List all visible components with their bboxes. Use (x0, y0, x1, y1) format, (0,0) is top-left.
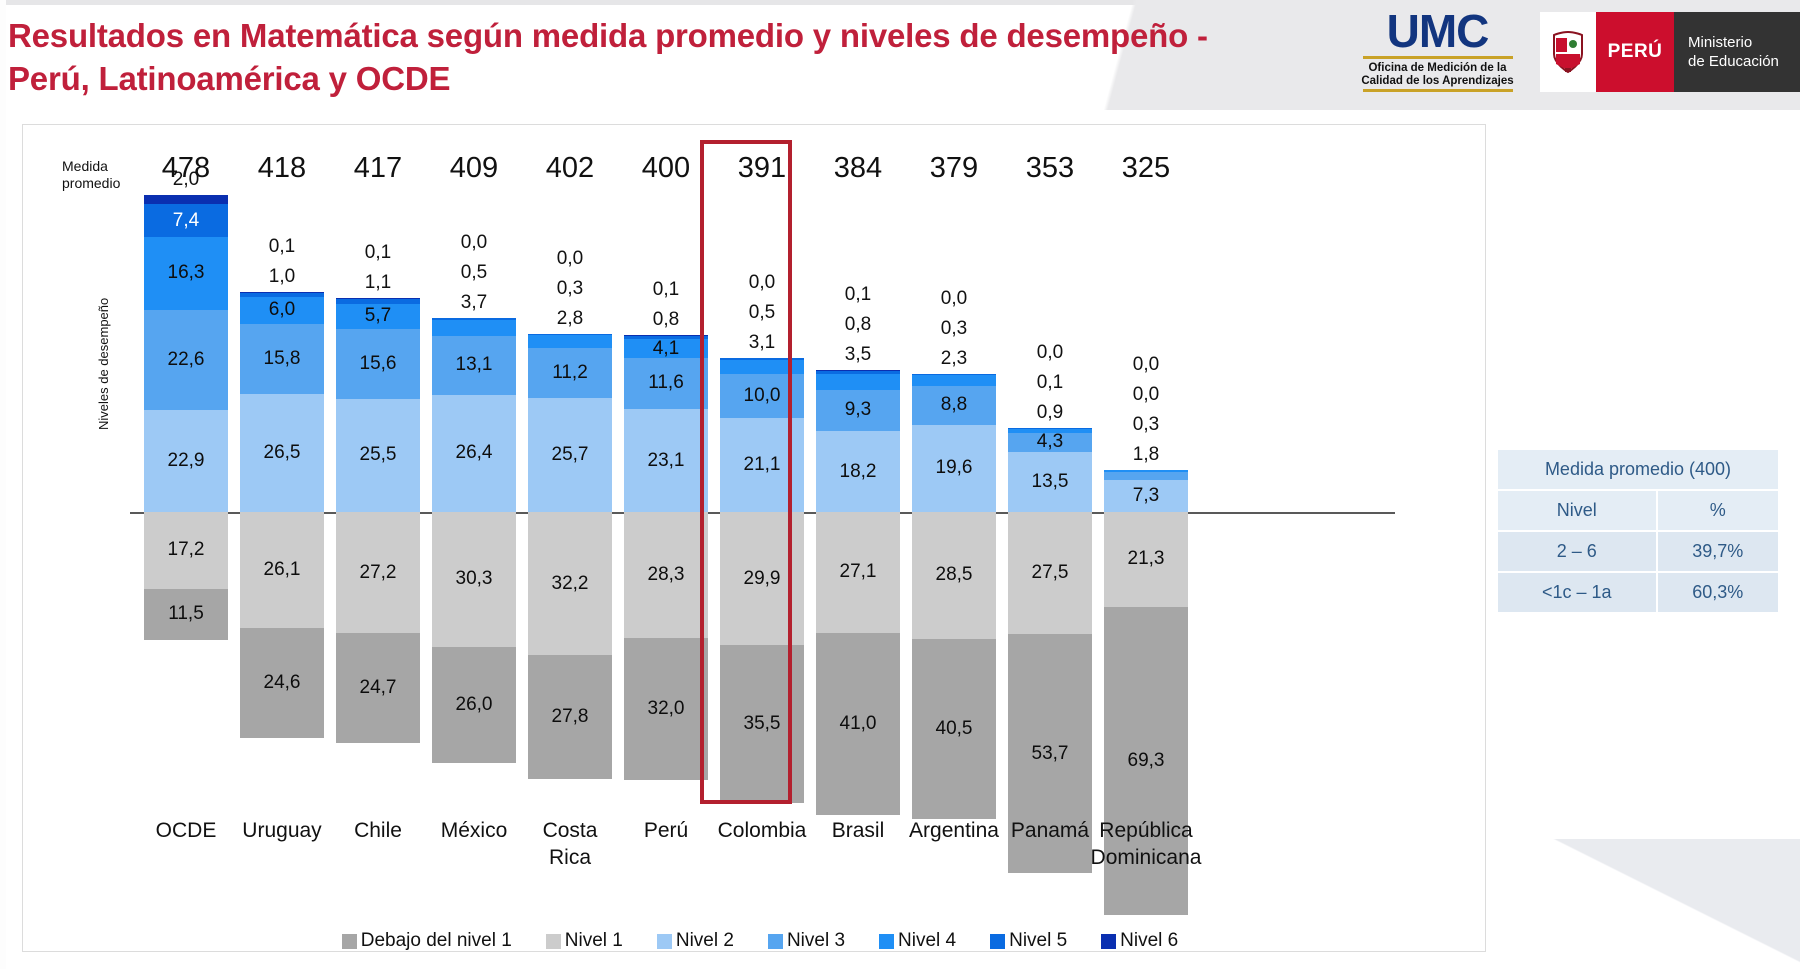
bar-segment: 26,5 (240, 394, 324, 512)
legend-swatch-icon (657, 934, 672, 949)
bar-segment: 17,2 (144, 512, 228, 589)
legend-label: Nivel 6 (1120, 930, 1178, 952)
bar-segment: 22,6 (144, 310, 228, 411)
bar-segment-label-outside: 0,5 (426, 262, 522, 284)
bar-segment: 28,3 (624, 512, 708, 638)
side-table-cell: 60,3% (1657, 572, 1779, 613)
bar-segment: 27,8 (528, 655, 612, 779)
bar-segment-label-outside: 0,1 (330, 242, 426, 264)
bar-segment (144, 195, 228, 204)
bar-below-baseline: 32,227,8 (528, 512, 612, 779)
bar-below-baseline: 28,332,0 (624, 512, 708, 780)
bar-below-baseline: 28,540,5 (912, 512, 996, 819)
bar-segment-label-outside: 0,3 (906, 318, 1002, 340)
legend-label: Nivel 2 (676, 930, 734, 952)
bar-segment: 24,6 (240, 628, 324, 737)
side-table-body: Medida promedio (400)Nivel%2 – 639,7%<1c… (1497, 449, 1779, 613)
bar-column[interactable]: 11,225,70,00,32,832,227,8CostaRica (522, 205, 618, 815)
bar-segment: 13,5 (1008, 452, 1092, 512)
bar-column[interactable]: 4,111,623,10,10,828,332,0Perú (618, 205, 714, 815)
bar-segment-label-outside: 3,5 (810, 344, 906, 366)
table-row: 2 – 639,7% (1497, 531, 1779, 572)
medida-promedio-value: 379 (906, 152, 1002, 185)
bar-segment: 4,3 (1008, 433, 1092, 452)
bar-segment: 27,2 (336, 512, 420, 633)
bar-segment: 8,8 (912, 386, 996, 425)
bar-column[interactable]: 7,416,322,622,92,017,211,5OCDE (138, 205, 234, 815)
left-edge-strip (0, 0, 6, 969)
bar-segment: 10,0 (720, 374, 804, 419)
legend-item[interactable]: Nivel 3 (768, 930, 845, 952)
bar-segment-label-outside: 3,7 (426, 292, 522, 314)
medida-promedio-value: 409 (426, 152, 522, 185)
bar-above-baseline: 11,225,7 (528, 334, 612, 512)
bar-segment: 41,0 (816, 633, 900, 815)
bar-segment-label-outside: 2,3 (906, 348, 1002, 370)
bar-segment: 35,5 (720, 645, 804, 803)
bar-column[interactable]: 10,021,10,00,53,129,935,5Colombia (714, 205, 810, 815)
x-axis-category-label: RepúblicaDominicana (1086, 817, 1206, 871)
legend-label: Nivel 4 (898, 930, 956, 952)
page-title: Resultados en Matemática según medida pr… (8, 14, 1248, 100)
bar-segment: 18,2 (816, 431, 900, 512)
umc-subtitle: Oficina de Medición de laCalidad de los … (1360, 62, 1515, 87)
umc-logo: UMC Oficina de Medición de laCalidad de … (1360, 8, 1515, 100)
bar-segment: 5,7 (336, 304, 420, 329)
bar-segment (432, 320, 516, 336)
bar-segment: 4,1 (624, 339, 708, 357)
bar-segment-label-outside: 0,0 (522, 248, 618, 270)
bar-above-baseline: 9,318,2 (816, 370, 900, 512)
bar-segment-label-outside: 0,1 (1002, 372, 1098, 394)
bar-segment-label-outside: 0,1 (810, 284, 906, 306)
legend-label: Nivel 3 (787, 930, 845, 952)
bar-segment-label-outside: 0,0 (1098, 354, 1194, 376)
bar-segment-label-outside: 0,5 (714, 302, 810, 324)
bar-segment (720, 360, 804, 374)
bar-segment: 32,0 (624, 638, 708, 780)
bar-segment-label-outside: 0,0 (1002, 342, 1098, 364)
legend-item[interactable]: Nivel 5 (990, 930, 1067, 952)
bar-segment-label-outside: 0,3 (1098, 414, 1194, 436)
bar-segment: 27,1 (816, 512, 900, 633)
bar-segment-label-outside: 1,8 (1098, 444, 1194, 466)
legend-swatch-icon (990, 934, 1005, 949)
bar-segment: 26,1 (240, 512, 324, 628)
bar-segment (528, 335, 612, 347)
legend-label: Nivel 5 (1009, 930, 1067, 952)
bar-segment: 24,7 (336, 633, 420, 743)
bar-below-baseline: 27,224,7 (336, 512, 420, 743)
bar-column[interactable]: 8,819,60,00,32,328,540,5Argentina (906, 205, 1002, 815)
medida-promedio-row-label: Medidapromedio (62, 158, 132, 192)
medida-promedio-value: 391 (714, 152, 810, 185)
chart-legend: Debajo del nivel 1Nivel 1Nivel 2Nivel 3N… (130, 930, 1390, 952)
bar-segment: 27,5 (1008, 512, 1092, 634)
bar-below-baseline: 26,124,6 (240, 512, 324, 738)
bar-above-baseline: 7,416,322,622,9 (144, 195, 228, 512)
bar-column[interactable]: 6,015,826,50,11,026,124,6Uruguay (234, 205, 330, 815)
bar-segment-label-outside: 0,9 (1002, 402, 1098, 424)
bar-segment: 19,6 (912, 425, 996, 512)
umc-rule-bottom (1363, 89, 1513, 92)
side-table-column-header: % (1657, 490, 1779, 531)
bar-segment: 7,3 (1104, 480, 1188, 512)
side-table-cell: 39,7% (1657, 531, 1779, 572)
bar-above-baseline: 8,819,6 (912, 374, 996, 512)
bar-segment-label-outside: 3,1 (714, 332, 810, 354)
bar-segment: 15,8 (240, 324, 324, 394)
bar-segment: 28,5 (912, 512, 996, 639)
bar-segment-label-outside: 0,0 (1098, 384, 1194, 406)
medida-promedio-value: 384 (810, 152, 906, 185)
bar-segment: 11,6 (624, 358, 708, 410)
bar-segment: 15,6 (336, 329, 420, 398)
bar-segment: 22,9 (144, 410, 228, 512)
bar-segment (1104, 472, 1188, 480)
side-table-cell: <1c – 1a (1497, 572, 1657, 613)
bar-segment-label-outside: 0,0 (906, 288, 1002, 310)
bar-segment: 40,5 (912, 639, 996, 819)
peru-text: PERÚ (1608, 41, 1663, 63)
legend-label: Debajo del nivel 1 (361, 930, 512, 952)
bar-segment: 25,5 (336, 399, 420, 512)
bar-segment: 26,0 (432, 647, 516, 763)
legend-item[interactable]: Nivel 6 (1101, 930, 1178, 952)
bar-segment: 23,1 (624, 409, 708, 512)
bar-segment: 21,3 (1104, 512, 1188, 607)
bar-segment-label-outside: 0,3 (522, 278, 618, 300)
medida-promedio-value: 402 (522, 152, 618, 185)
bar-column[interactable]: 13,126,40,00,53,730,326,0México (426, 205, 522, 815)
bar-segment: 29,9 (720, 512, 804, 645)
umc-wordmark: UMC (1360, 8, 1515, 54)
legend-swatch-icon (546, 934, 561, 949)
bar-segment-label-outside: 0,1 (234, 236, 330, 258)
ministry-text: Ministeriode Educación (1688, 33, 1779, 71)
legend-swatch-icon (768, 934, 783, 949)
bar-segment: 26,4 (432, 395, 516, 512)
legend-swatch-icon (1101, 934, 1116, 949)
medida-promedio-value: 353 (1002, 152, 1098, 185)
bar-segment-label-outside: 1,1 (330, 272, 426, 294)
legend-swatch-icon (879, 934, 894, 949)
bar-column[interactable]: 4,313,50,00,10,927,553,7Panamá (1002, 205, 1098, 815)
corner-decoration (1540, 839, 1800, 969)
minedu-logo: PERÚ Ministeriode Educación (1540, 12, 1800, 92)
y-axis-label: Niveles de desempeño (96, 298, 111, 430)
bar-above-baseline: 5,715,625,5 (336, 298, 420, 512)
ministry-label: Ministeriode Educación (1674, 12, 1800, 92)
bar-segment-label-outside: 0,8 (618, 309, 714, 331)
bar-segment: 11,2 (528, 348, 612, 398)
bar-column[interactable]: 7,30,00,00,31,821,369,3RepúblicaDominica… (1098, 205, 1194, 815)
bar-above-baseline: 4,111,623,1 (624, 335, 708, 512)
side-table-title: Medida promedio (400) (1497, 449, 1779, 490)
bar-above-baseline: 6,015,826,5 (240, 292, 324, 512)
bar-segment (912, 375, 996, 385)
bar-segment: 30,3 (432, 512, 516, 647)
legend-item[interactable]: Nivel 4 (879, 930, 956, 952)
bar-above-baseline: 13,126,4 (432, 318, 516, 512)
table-header-row: Nivel% (1497, 490, 1779, 531)
bar-segment: 7,4 (144, 204, 228, 237)
side-table-column-header: Nivel (1497, 490, 1657, 531)
bar-segment: 32,2 (528, 512, 612, 655)
bar-below-baseline: 17,211,5 (144, 512, 228, 640)
bar-segment-label-outside: 0,8 (810, 314, 906, 336)
bar-segment: 6,0 (240, 297, 324, 324)
medida-promedio-value: 418 (234, 152, 330, 185)
bar-segment: 21,1 (720, 418, 804, 512)
table-row: Medida promedio (400) (1497, 449, 1779, 490)
bar-segment-label-outside: 0,0 (426, 232, 522, 254)
bar-segment-label-outside: 1,0 (234, 266, 330, 288)
bar-below-baseline: 30,326,0 (432, 512, 516, 763)
bar-above-baseline: 4,313,5 (1008, 428, 1092, 512)
legend-label: Nivel 1 (565, 930, 623, 952)
side-table-cell: 2 – 6 (1497, 531, 1657, 572)
legend-swatch-icon (342, 934, 357, 949)
bar-segment: 11,5 (144, 589, 228, 640)
stacked-bar-plot: 7,416,322,622,92,017,211,5OCDE6,015,826,… (130, 205, 1400, 815)
legend-item[interactable]: Nivel 1 (546, 930, 623, 952)
medida-promedio-summary-table: Medida promedio (400)Nivel%2 – 639,7%<1c… (1496, 448, 1780, 614)
peru-coat-of-arms-icon (1540, 12, 1596, 92)
medida-promedio-value: 417 (330, 152, 426, 185)
medida-promedio-value: 478 (138, 152, 234, 185)
table-row: <1c – 1a60,3% (1497, 572, 1779, 613)
bar-segment (816, 374, 900, 390)
bar-segment: 13,1 (432, 336, 516, 394)
bar-above-baseline: 7,3 (1104, 470, 1188, 512)
bar-column[interactable]: 5,715,625,50,11,127,224,7Chile (330, 205, 426, 815)
bar-segment: 16,3 (144, 237, 228, 310)
bar-segment-label-outside: 2,8 (522, 308, 618, 330)
bar-below-baseline: 27,141,0 (816, 512, 900, 815)
bar-below-baseline: 29,935,5 (720, 512, 804, 803)
bar-above-baseline: 10,021,1 (720, 358, 804, 512)
bar-column[interactable]: 9,318,20,10,83,527,141,0Brasil (810, 205, 906, 815)
medida-promedio-value: 325 (1098, 152, 1194, 185)
bar-segment: 25,7 (528, 398, 612, 512)
bar-segment: 9,3 (816, 390, 900, 431)
legend-item[interactable]: Nivel 2 (657, 930, 734, 952)
legend-item[interactable]: Debajo del nivel 1 (342, 930, 512, 952)
peru-label: PERÚ (1596, 12, 1674, 92)
bar-segment-label-outside: 0,0 (714, 272, 810, 294)
bar-segment-label-outside: 0,1 (618, 279, 714, 301)
slide-header: Resultados en Matemática según medida pr… (0, 0, 1800, 110)
medida-promedio-value: 400 (618, 152, 714, 185)
